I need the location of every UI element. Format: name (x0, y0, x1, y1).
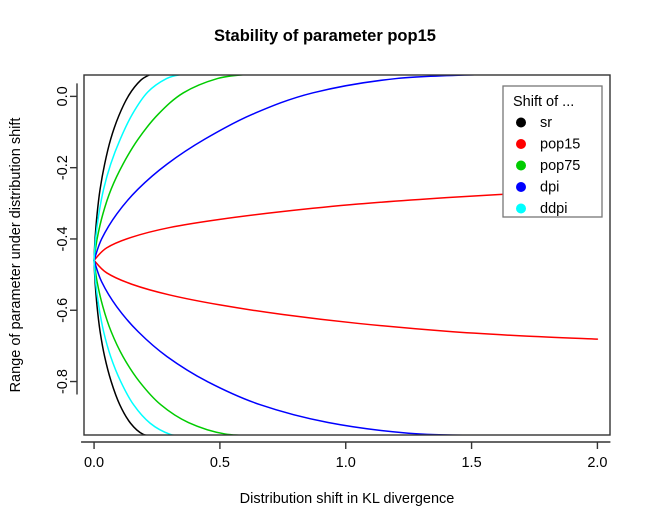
legend-marker-icon (516, 139, 526, 149)
legend-label: sr (540, 115, 552, 131)
legend-title: Shift of ... (513, 94, 574, 110)
legend-label: pop75 (540, 158, 580, 174)
y-tick-label: 0.0 (55, 86, 71, 106)
x-tick-label: 2.0 (587, 455, 607, 471)
legend-label: dpi (540, 180, 559, 196)
legend-label: ddpi (540, 201, 567, 217)
chart-container: Stability of parameter pop15 0.00.51.01.… (0, 0, 650, 531)
y-tick-label: -0.6 (55, 298, 71, 323)
y-tick-label: -0.4 (55, 226, 71, 251)
x-tick-label: 0.0 (84, 455, 104, 471)
chart-legend: Shift of ... srpop15pop75dpiddpi (503, 86, 602, 217)
x-axis-title: Distribution shift in KL divergence (240, 491, 455, 507)
stability-line-chart: Stability of parameter pop15 0.00.51.01.… (0, 0, 650, 531)
x-tick-label: 0.5 (210, 455, 230, 471)
legend-marker-icon (516, 182, 526, 192)
x-tick-label: 1.0 (336, 455, 356, 471)
legend-marker-icon (516, 204, 526, 214)
legend-marker-icon (516, 161, 526, 171)
x-tick-label: 1.5 (461, 455, 481, 471)
y-tick-label: -0.8 (55, 369, 71, 394)
chart-title: Stability of parameter pop15 (214, 27, 436, 45)
legend-label: pop15 (540, 137, 580, 153)
y-axis-title: Range of parameter under distribution sh… (8, 118, 24, 393)
legend-marker-icon (516, 118, 526, 128)
y-tick-label: -0.2 (55, 155, 71, 180)
